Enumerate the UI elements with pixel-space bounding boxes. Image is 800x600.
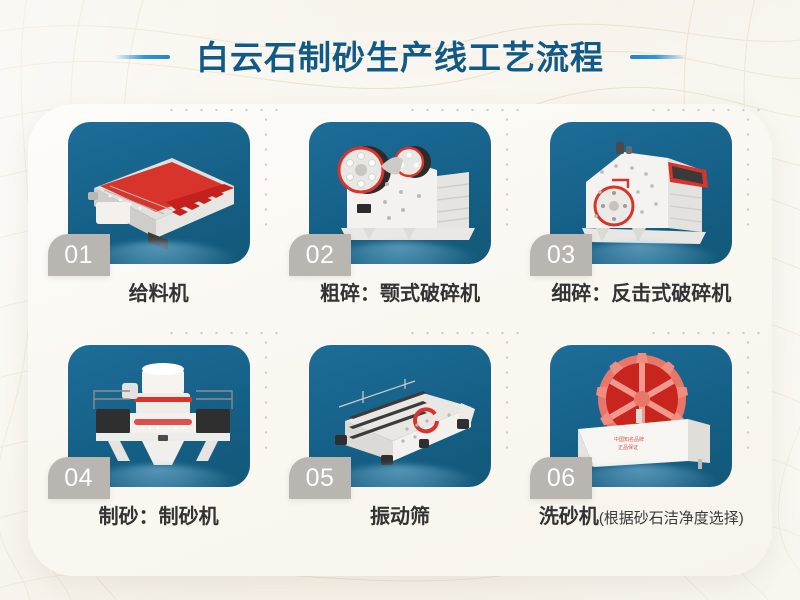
process-step-04[interactable]: 04 制砂：制砂机 — [38, 345, 279, 568]
step-card-wrap: 01 — [68, 122, 250, 264]
svg-text:正品保证: 正品保证 — [618, 444, 638, 451]
step-card-wrap: 05 — [309, 345, 491, 487]
step-label: 粗碎：颚式破碎机 — [320, 283, 480, 305]
step-label-sub: (根据砂石洁净度选择) — [599, 510, 744, 527]
step-number-badge: 06 — [530, 457, 592, 499]
step-number-badge: 02 — [289, 234, 351, 276]
step-label: 细碎：反击式破碎机 — [551, 283, 731, 305]
process-step-02[interactable]: 02 粗碎：颚式破碎机 — [279, 122, 520, 345]
step-card-wrap: 04 — [68, 345, 250, 487]
page-header: 白云石制砂生产线工艺流程 — [0, 32, 800, 82]
step-label: 洗砂机 — [539, 506, 599, 528]
step-caption: 洗砂机(根据砂石洁净度选择) — [539, 507, 744, 527]
step-label: 振动筛 — [370, 506, 430, 528]
title-dash-right-icon — [630, 55, 686, 59]
page-title: 白云石制砂生产线工艺流程 — [196, 41, 604, 74]
step-number-badge: 01 — [48, 234, 110, 276]
step-card-wrap: 02 — [309, 122, 491, 264]
dot-column-decoration — [263, 112, 269, 232]
dot-column-decoration — [745, 335, 751, 455]
process-step-grid: 01 给料机 — [28, 104, 772, 576]
step-caption: 粗碎：颚式破碎机 — [320, 284, 480, 304]
step-label: 制砂：制砂机 — [99, 506, 219, 528]
step-number-badge: 04 — [48, 457, 110, 499]
step-label: 给料机 — [129, 283, 189, 305]
process-step-05[interactable]: 05 振动筛 — [279, 345, 520, 568]
dot-column-decoration — [263, 335, 269, 455]
title-dash-left-icon — [114, 55, 170, 59]
process-step-03[interactable]: 03 细碎：反击式破碎机 — [521, 122, 762, 345]
step-caption: 制砂：制砂机 — [99, 507, 219, 527]
step-number-badge: 03 — [530, 234, 592, 276]
step-caption: 细碎：反击式破碎机 — [551, 284, 731, 304]
process-step-01[interactable]: 01 给料机 — [38, 122, 279, 345]
dot-column-decoration — [745, 112, 751, 232]
process-flow-infographic: 白云石制砂生产线工艺流程 — [0, 0, 800, 600]
step-card-wrap: 03 — [550, 122, 732, 264]
dot-column-decoration — [504, 112, 510, 232]
step-caption: 给料机 — [129, 284, 189, 304]
dot-column-decoration — [504, 335, 510, 455]
step-number-badge: 05 — [289, 457, 351, 499]
step-caption: 振动筛 — [370, 507, 430, 527]
process-step-06[interactable]: 中国知名品牌 正品保证 06 洗砂机(根据砂石洁净度选择) — [521, 345, 762, 568]
step-card-wrap: 中国知名品牌 正品保证 06 — [550, 345, 732, 487]
svg-text:中国知名品牌: 中国知名品牌 — [614, 436, 644, 443]
